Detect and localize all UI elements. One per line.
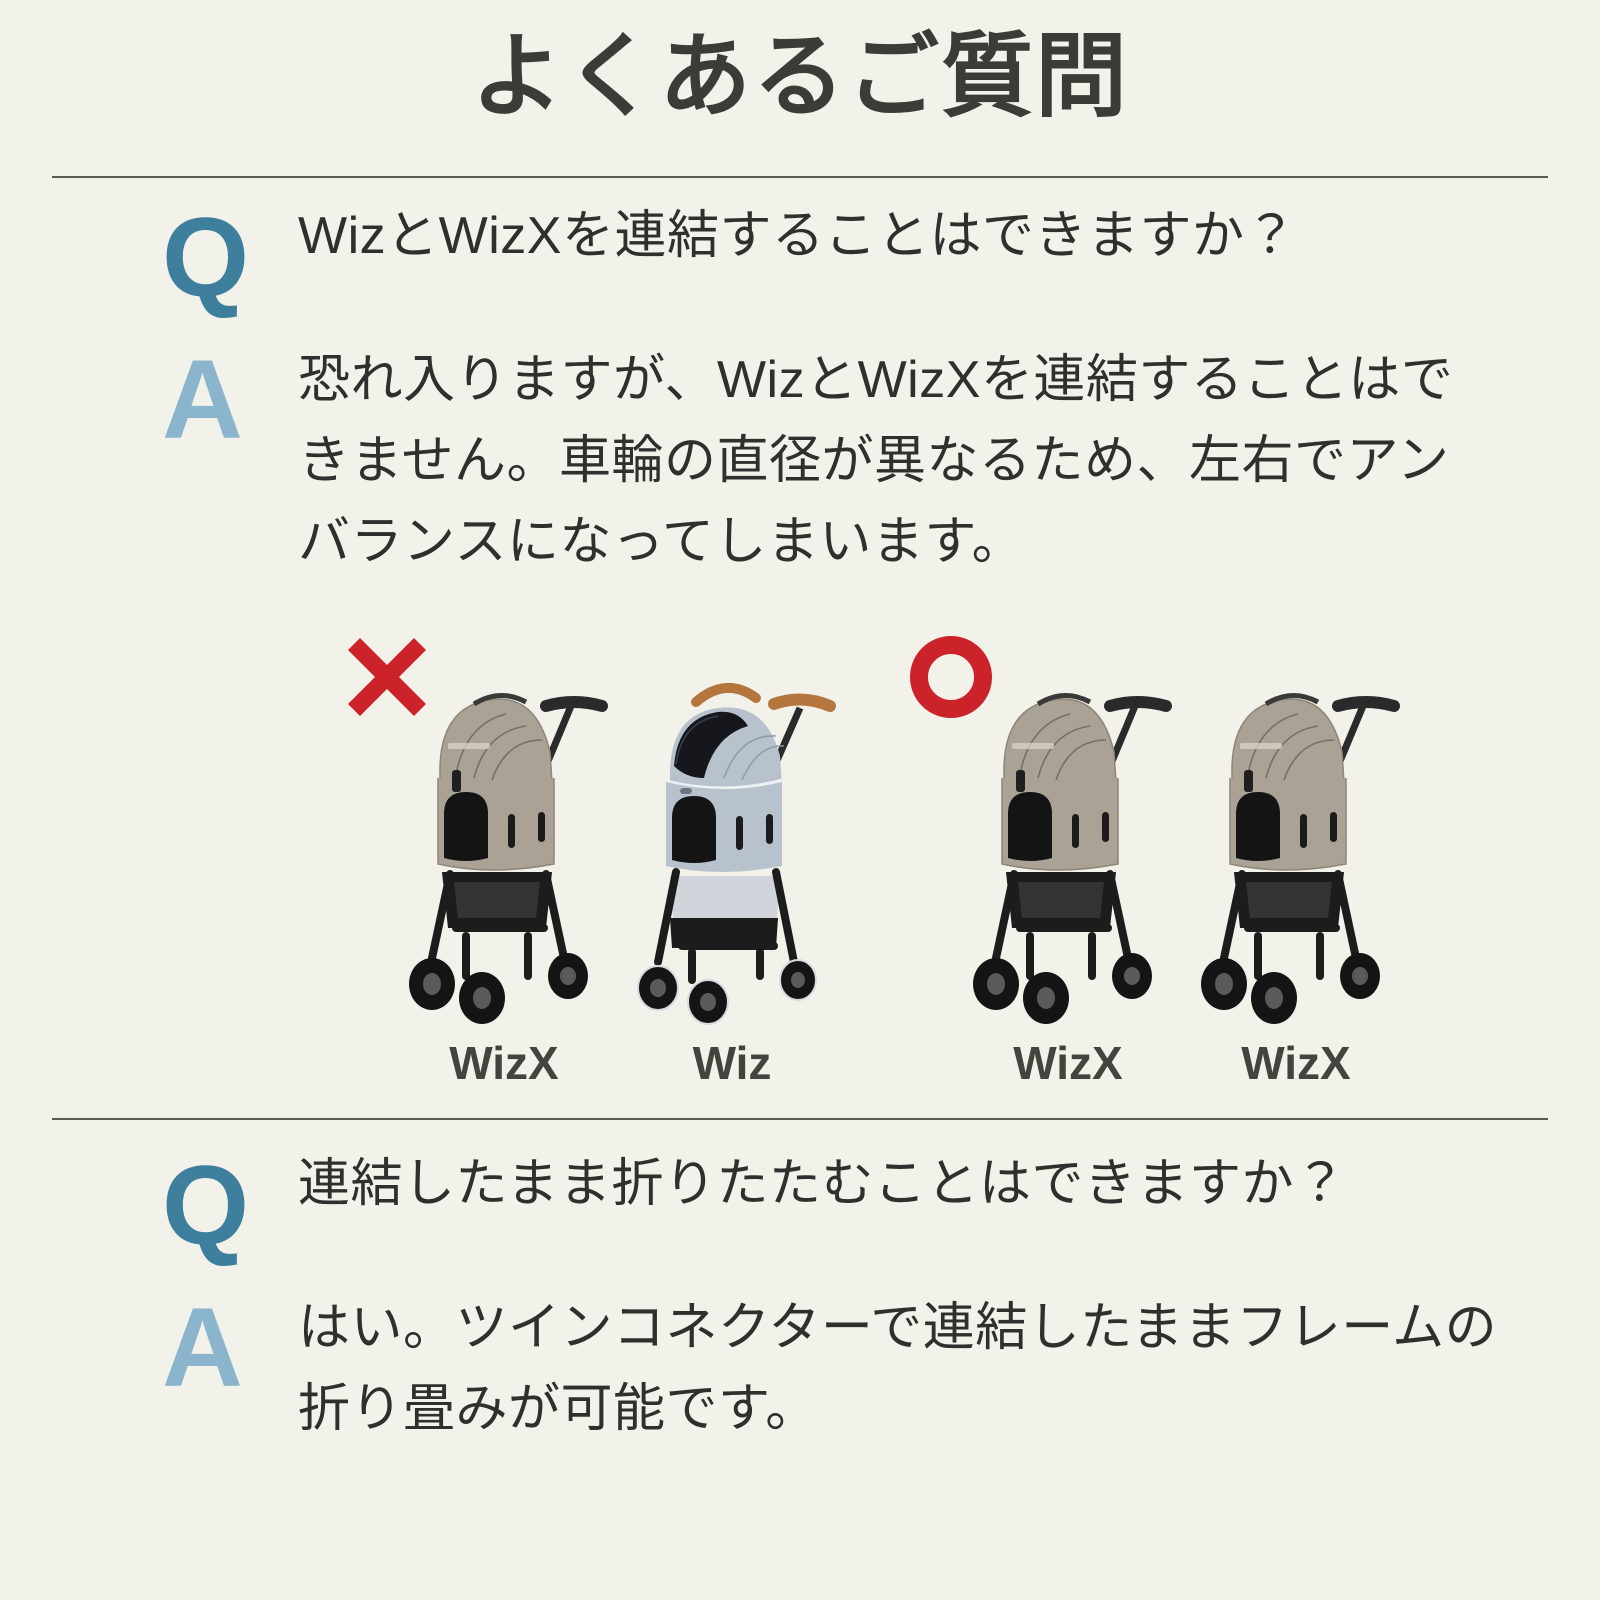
- faq-1-question-row: Q WizとWizXを連結することはできますか？: [52, 196, 1548, 314]
- divider-top: [52, 176, 1548, 178]
- stroller-wizx-illustration: [1188, 646, 1404, 1036]
- faq-2-question-row: Q 連結したまま折りたたむことはできますか？: [52, 1144, 1548, 1262]
- stroller-caption: WizX: [449, 1040, 558, 1086]
- faq-1-answer-row: A 恐れ入りますが、WizとWizXを連結することはできません。車輪の直径が異な…: [52, 340, 1548, 582]
- faq-2-question-text: 連結したまま折りたたむことはできますか？: [170, 1144, 1548, 1225]
- good-units: WizX: [902, 646, 1412, 1086]
- answer-marker: A: [52, 1288, 170, 1404]
- page-title: よくあるご質問: [0, 0, 1600, 132]
- stroller-caption: WizX: [1013, 1040, 1122, 1086]
- stroller-unit: WizX: [1188, 646, 1404, 1086]
- question-marker: Q: [52, 196, 170, 314]
- faq-item-1: Q WizとWizXを連結することはできますか？ A 恐れ入りますが、WizとW…: [0, 196, 1600, 1086]
- faq-page: よくあるご質問 Q WizとWizXを連結することはできますか？ A 恐れ入りま…: [0, 0, 1600, 1600]
- stroller-wizx-illustration: [960, 646, 1176, 1036]
- stroller-caption: WizX: [1241, 1040, 1350, 1086]
- stroller-wiz-illustration: [624, 646, 840, 1036]
- stroller-wizx-illustration: [396, 646, 612, 1036]
- comparison-figure: WizX: [52, 616, 1548, 1086]
- comparison-group-good: WizX: [902, 616, 1412, 1086]
- faq-2-answer-text: はい。ツインコネクターで連結したままフレームの折り畳みが可能です。: [170, 1288, 1548, 1449]
- stroller-unit: Wiz: [624, 646, 840, 1086]
- faq-2-answer-row: A はい。ツインコネクターで連結したままフレームの折り畳みが可能です。: [52, 1288, 1548, 1449]
- stroller-unit: WizX: [960, 646, 1176, 1086]
- faq-1-answer-text: 恐れ入りますが、WizとWizXを連結することはできません。車輪の直径が異なるた…: [170, 340, 1548, 582]
- answer-marker: A: [52, 340, 170, 456]
- question-marker: Q: [52, 1144, 170, 1262]
- faq-1-question-text: WizとWizXを連結することはできますか？: [170, 196, 1548, 277]
- stroller-unit: WizX: [396, 646, 612, 1086]
- comparison-group-bad: WizX: [338, 616, 848, 1086]
- stroller-caption: Wiz: [693, 1040, 772, 1086]
- faq-item-2: Q 連結したまま折りたたむことはできますか？ A はい。ツインコネクターで連結し…: [0, 1120, 1600, 1449]
- bad-units: WizX: [338, 646, 848, 1086]
